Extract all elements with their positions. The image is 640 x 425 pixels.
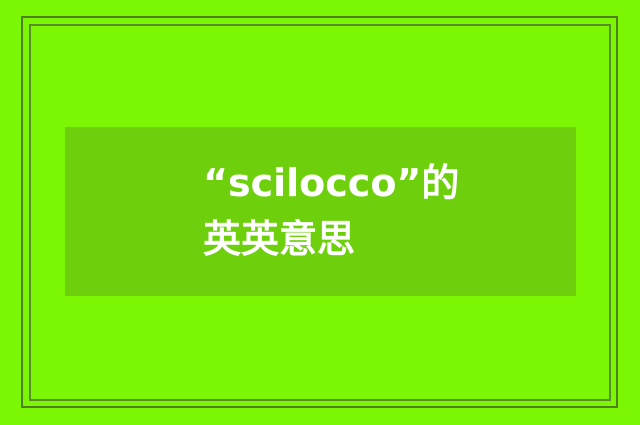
page-title: “scilocco”的英英意思 [203, 156, 473, 266]
title-panel: “scilocco”的英英意思 [65, 127, 576, 296]
poster-canvas: “scilocco”的英英意思 [0, 0, 640, 425]
